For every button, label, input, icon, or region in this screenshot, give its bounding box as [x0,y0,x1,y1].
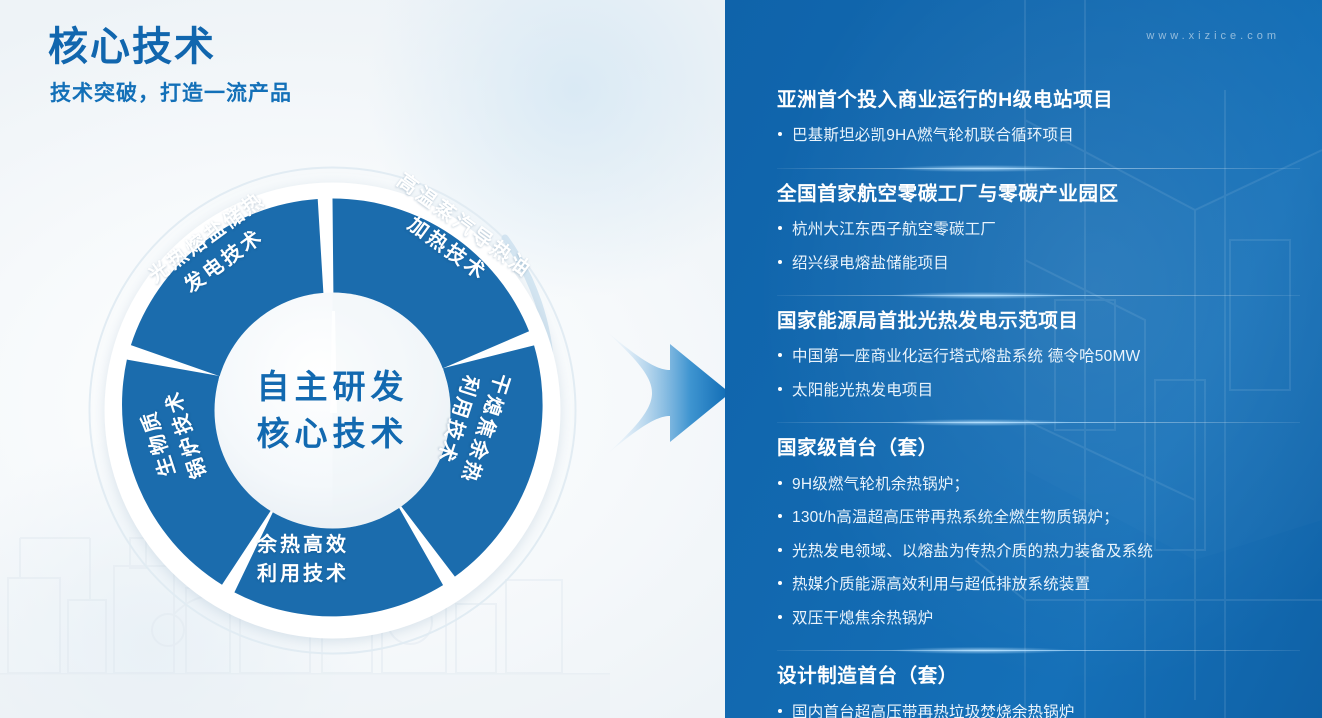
list-item: 太阳能光热发电项目 [777,374,1300,408]
bullet-list: 巴基斯坦必凯9HA燃气轮机联合循环项目 [777,119,1300,153]
list-item: 国内首台超高压带再热垃圾焚烧余热锅炉 [777,696,1300,718]
bullet-list: 国内首台超高压带再热垃圾焚烧余热锅炉 [777,696,1300,718]
bullet-list: 中国第一座商业化运行塔式熔盐系统 德令哈50MW 太阳能光热发电项目 [777,340,1300,407]
flow-arrow [596,318,725,468]
list-item: 绍兴绿电熔盐储能项目 [777,247,1300,281]
list-item: 杭州大江东西子航空零碳工厂 [777,213,1300,247]
curved-right-arrow-icon [596,318,725,468]
donut-center-label: 自主研发 核心技术 [257,363,409,459]
core-technology-donut: 高温蒸汽导热油 加热技术 干熄焦余热 利用技术 余热高效 利用技术 生物质 锅炉… [85,163,580,658]
list-item: 9H级燃气轮机余热锅炉； [777,468,1300,502]
list-item: 中国第一座商业化运行塔式熔盐系统 德令哈50MW [777,340,1300,374]
right-panel: www.xizice.com 亚洲首个投入商业运行的H级电站项目 巴基斯坦必凯9… [725,0,1322,718]
title-block: 核心技术 技术突破，打造一流产品 [48,22,292,107]
section-asia-h-class: 亚洲首个投入商业运行的H级电站项目 巴基斯坦必凯9HA燃气轮机联合循环项目 [777,86,1300,159]
site-watermark: www.xizice.com [1146,30,1280,42]
section-title: 国家级首台（套） [777,434,1300,463]
section-design-manufacture-first-set: 设计制造首台（套） 国内首台超高压带再热垃圾焚烧余热锅炉 [777,662,1300,718]
slide-canvas: 核心技术 技术突破，打造一流产品 [0,0,1322,718]
list-item: 130t/h高温超高压带再热系统全燃生物质锅炉； [777,501,1300,535]
bullet-list: 杭州大江东西子航空零碳工厂 绍兴绿电熔盐储能项目 [777,213,1300,280]
section-title: 国家能源局首批光热发电示范项目 [777,307,1300,336]
section-divider [777,422,1300,423]
list-item: 热媒介质能源高效利用与超低排放系统装置 [777,568,1300,602]
achievement-sections: 亚洲首个投入商业运行的H级电站项目 巴基斯坦必凯9HA燃气轮机联合循环项目 全国… [777,86,1300,718]
section-national-first-set: 国家级首台（套） 9H级燃气轮机余热锅炉； 130t/h高温超高压带再热系统全燃… [777,434,1300,641]
list-item: 双压干熄焦余热锅炉 [777,602,1300,636]
section-divider [777,650,1300,651]
section-divider [777,168,1300,169]
list-item: 光热发电领域、以熔盐为传热介质的热力装备及系统 [777,535,1300,569]
segment-label-waste-heat: 余热高效 利用技术 [257,531,349,589]
page-subtitle: 技术突破，打造一流产品 [50,80,292,107]
page-title: 核心技术 [48,22,292,72]
section-csp-demo: 国家能源局首批光热发电示范项目 中国第一座商业化运行塔式熔盐系统 德令哈50MW… [777,307,1300,413]
left-panel: 核心技术 技术突破，打造一流产品 [0,0,725,718]
section-title: 全国首家航空零碳工厂与零碳产业园区 [777,180,1300,209]
list-item: 巴基斯坦必凯9HA燃气轮机联合循环项目 [777,119,1300,153]
section-zero-carbon: 全国首家航空零碳工厂与零碳产业园区 杭州大江东西子航空零碳工厂 绍兴绿电熔盐储能… [777,180,1300,286]
section-divider [777,295,1300,296]
section-title: 设计制造首台（套） [777,662,1300,691]
bullet-list: 9H级燃气轮机余热锅炉； 130t/h高温超高压带再热系统全燃生物质锅炉； 光热… [777,468,1300,636]
section-title: 亚洲首个投入商业运行的H级电站项目 [777,86,1300,115]
